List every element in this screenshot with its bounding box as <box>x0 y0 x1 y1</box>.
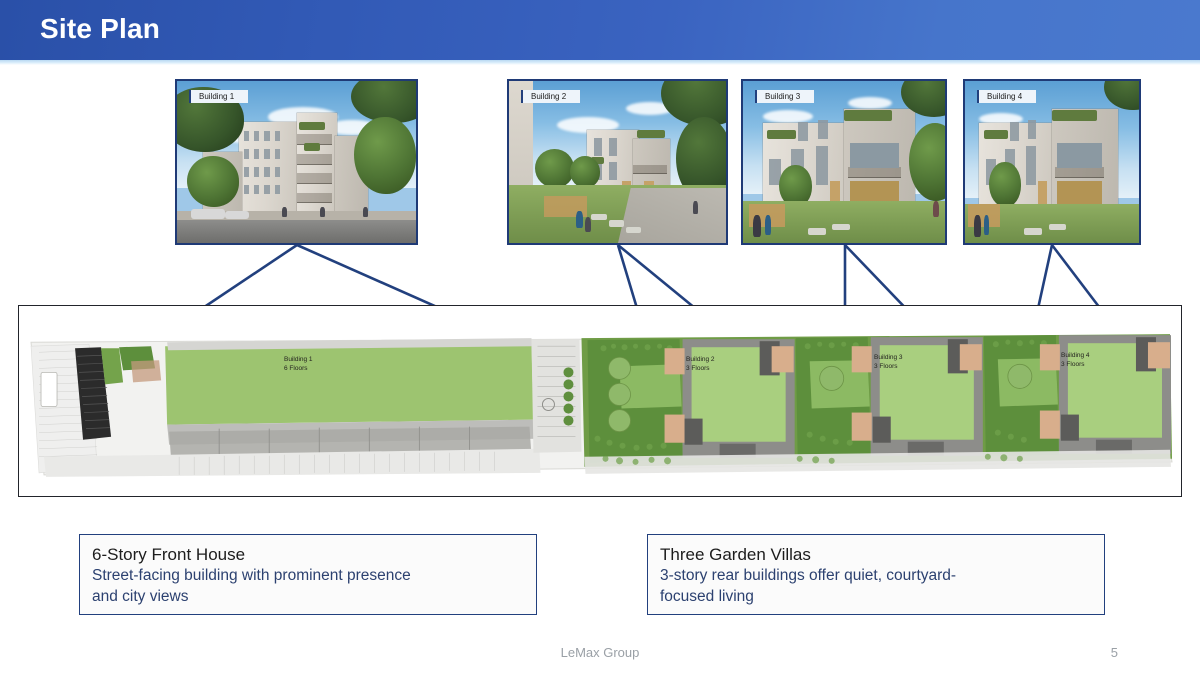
pedestrian <box>693 201 697 214</box>
photo-label: Building 3 <box>755 90 814 103</box>
footer-page-number: 5 <box>1111 645 1118 660</box>
plan-label-name: Building 1 <box>284 356 313 365</box>
pedestrian <box>363 207 368 217</box>
roof-planting <box>767 130 795 140</box>
footer-company-name: LeMax Group <box>0 645 1200 660</box>
stepping-stone <box>1049 224 1066 230</box>
window <box>798 122 808 141</box>
stepping-stone <box>626 227 641 233</box>
tree <box>570 156 600 188</box>
caption-box-garden-villas[interactable]: Three Garden Villas 3-story rear buildin… <box>647 534 1105 615</box>
pedestrian <box>984 215 989 234</box>
header-banner <box>0 0 1200 60</box>
caption-line-2: and city views <box>92 587 524 608</box>
caption-line-2: focused living <box>660 587 1092 608</box>
tree <box>354 117 416 195</box>
plan-label-floors: 3 Floors <box>1061 361 1090 370</box>
pedestrian <box>320 207 325 217</box>
stepping-stone <box>808 228 826 234</box>
window <box>609 162 618 180</box>
photo-building-3[interactable]: Building 3 <box>741 79 947 245</box>
photo-label: Building 4 <box>977 90 1036 103</box>
roof-planting <box>1052 110 1097 121</box>
stepping-stone <box>609 220 624 226</box>
plan-label-name: Building 3 <box>874 354 903 363</box>
plan-label-floors: 3 Floors <box>686 365 715 374</box>
balcony <box>297 193 333 204</box>
plan-label-building-4: Building 4 3 Floors <box>1061 352 1090 370</box>
balcony <box>297 154 333 165</box>
window <box>1010 122 1019 141</box>
caption-line-1: Street-facing building with prominent pr… <box>92 566 524 587</box>
tree <box>989 162 1020 207</box>
street <box>177 220 416 243</box>
caption-line-1: 3-story rear buildings offer quiet, cour… <box>660 566 1092 587</box>
photo-building-4[interactable]: Building 4 <box>963 79 1141 245</box>
glazing <box>850 143 898 169</box>
plan-label-name: Building 4 <box>1061 352 1090 361</box>
pedestrian <box>753 215 761 236</box>
plan-label-name: Building 2 <box>686 356 715 365</box>
roof-planting <box>637 130 665 138</box>
photo-label: Building 2 <box>521 90 580 103</box>
window <box>594 138 603 156</box>
glazing <box>1057 143 1102 169</box>
stepping-stone <box>832 224 850 230</box>
header-underline <box>0 60 1200 65</box>
caption-title: 6-Story Front House <box>92 544 524 566</box>
tree <box>187 156 240 208</box>
window <box>816 146 828 185</box>
stepping-stone <box>1024 228 1041 234</box>
roof-planting <box>844 110 892 121</box>
window <box>609 138 618 156</box>
plan-label-building-1: Building 1 6 Floors <box>284 356 313 374</box>
photo-label: Building 1 <box>189 90 248 103</box>
roof-planting <box>299 122 325 130</box>
site-plan-frame[interactable]: Building 1 6 Floors Building 2 3 Floors … <box>18 305 1182 497</box>
pedestrian <box>974 215 981 236</box>
tree <box>535 149 574 188</box>
plan-label-floors: 3 Floors <box>874 363 903 372</box>
pedestrian <box>576 211 583 229</box>
pedestrian <box>933 201 939 217</box>
car <box>191 209 224 219</box>
car <box>225 211 249 219</box>
site-plan-drawing <box>19 306 1181 496</box>
plan-label-building-3: Building 3 3 Floors <box>874 354 903 372</box>
balcony <box>297 173 333 184</box>
pedestrian <box>282 207 287 217</box>
window <box>818 120 828 139</box>
balcony <box>1055 167 1104 178</box>
window <box>1028 120 1037 139</box>
roof-planting <box>304 143 321 151</box>
photo-building-2[interactable]: Building 2 <box>507 79 728 245</box>
balcony <box>848 167 901 178</box>
page-title: Site Plan <box>40 13 160 45</box>
walkway <box>618 188 729 243</box>
window <box>1026 146 1036 185</box>
plan-label-building-2: Building 2 3 Floors <box>686 356 715 374</box>
window-grid <box>242 126 299 207</box>
roof-planting <box>984 130 1008 140</box>
caption-title: Three Garden Villas <box>660 544 1092 566</box>
photo-building-1[interactable]: Building 1 <box>175 79 418 245</box>
stepping-stone <box>591 214 606 220</box>
pedestrian <box>765 215 771 234</box>
balcony <box>633 165 668 174</box>
plan-label-floors: 6 Floors <box>284 365 313 374</box>
pedestrian <box>585 217 592 232</box>
caption-box-front-house[interactable]: 6-Story Front House Street-facing buildi… <box>79 534 537 615</box>
